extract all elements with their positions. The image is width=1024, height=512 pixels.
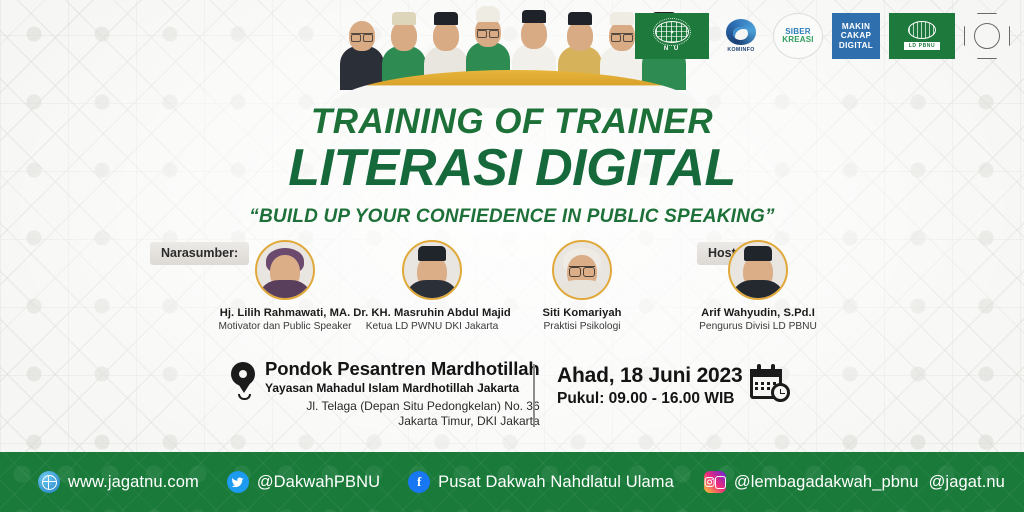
instagram-label: @lembagadakwah_pbnu	[734, 473, 919, 492]
octagon-logo	[964, 13, 1010, 59]
clock-icon	[771, 383, 790, 402]
person-head	[475, 17, 501, 47]
person-head	[349, 21, 375, 51]
footer-facebook[interactable]: f Pusat Dakwah Nahdlatul Ulama	[408, 471, 674, 493]
footer-twitter[interactable]: @DakwahPBNU	[227, 471, 380, 493]
speaker-card: Siti Komariyah Praktisi Psikologi	[487, 240, 677, 332]
social-footer-bar: www.jagatnu.com @DakwahPBNU f Pusat Dakw…	[0, 452, 1024, 512]
speaker-role: Praktisi Psikologi	[487, 321, 677, 332]
vertical-divider	[533, 364, 535, 427]
avatar-shoulders	[730, 280, 786, 300]
person-cap	[392, 12, 416, 25]
makin-line1: MAKIN	[842, 22, 870, 31]
siber-kreasi-logo: SIBER KREASI	[773, 13, 823, 59]
speaker-card: Arif Wahyudin, S.Pd.I Pengurus Divisi LD…	[663, 240, 853, 332]
person-cap	[522, 10, 546, 23]
event-poster: N U KOMINFO SIBER KREASI MAKIN CAKAP DIG…	[0, 0, 1024, 512]
nu-logo-label: N U	[664, 46, 680, 52]
nu-logo: N U	[635, 13, 709, 59]
facebook-icon: f	[408, 471, 430, 493]
makin-line3: DIGITAL	[839, 41, 873, 50]
avatar-peci-cap	[418, 246, 446, 261]
footer-website[interactable]: www.jagatnu.com	[38, 471, 199, 493]
event-details-section: Pondok Pesantren Mardhotillah Yayasan Ma…	[0, 358, 1024, 438]
speaker-name: Arif Wahyudin, S.Pd.I	[663, 307, 853, 319]
person-cap	[568, 12, 592, 25]
person-glasses-icon	[611, 33, 633, 39]
event-time: Pukul: 09.00 - 16.00 WIB	[557, 390, 742, 408]
instagram-secondary-label: @jagat.nu	[929, 473, 1005, 492]
avatar-shoulders	[554, 280, 610, 300]
footer-instagram[interactable]: @lembagadakwah_pbnu	[704, 471, 919, 493]
partner-logo-strip: N U KOMINFO SIBER KREASI MAKIN CAKAP DIG…	[635, 13, 1010, 59]
avatar-peci-cap	[744, 246, 772, 261]
venue-foundation: Yayasan Mahadul Islam Mardhotillah Jakar…	[265, 381, 540, 395]
nu-globe-icon	[655, 21, 689, 43]
globe-icon	[38, 471, 60, 493]
kominfo-mark-icon	[726, 19, 756, 45]
speaker-name: Siti Komariyah	[487, 307, 677, 319]
instagram-icon	[704, 471, 726, 493]
calendar-header-bar	[750, 369, 782, 377]
person-glasses-icon	[351, 33, 373, 39]
avatar	[402, 240, 462, 300]
person-turban	[476, 6, 500, 22]
calendar-clock-icon	[750, 364, 790, 402]
kominfo-logo-label: KOMINFO	[727, 47, 754, 53]
twitter-icon	[227, 471, 249, 493]
facebook-label: Pusat Dakwah Nahdlatul Ulama	[438, 473, 674, 492]
person-cap	[610, 12, 634, 25]
avatar	[255, 240, 315, 300]
twitter-label: @DakwahPBNU	[257, 473, 380, 492]
person-head	[521, 19, 547, 49]
makin-line2: CAKAP	[841, 31, 872, 40]
avatar-shoulders	[404, 280, 460, 300]
schedule-block: Ahad, 18 Juni 2023 Pukul: 09.00 - 16.00 …	[557, 364, 742, 408]
speakers-section: Narasumber: Host: Hj. Lilih Rahmawati, M…	[0, 240, 1024, 350]
avatar-glasses-icon	[569, 266, 595, 274]
venue-name: Pondok Pesantren Mardhotillah	[265, 359, 540, 380]
footer-instagram-secondary[interactable]: @jagat.nu	[929, 473, 1005, 492]
ld-pbnu-logo: LD PBNU	[889, 13, 955, 59]
avatar	[728, 240, 788, 300]
website-label: www.jagatnu.com	[68, 473, 199, 492]
avatar-shoulders	[257, 280, 313, 300]
title-line-2: LITERASI DIGITAL	[0, 141, 1024, 196]
ld-pbnu-globe-icon	[908, 21, 936, 39]
avatar	[552, 240, 612, 300]
location-pin-icon	[231, 362, 257, 400]
kominfo-logo: KOMINFO	[718, 13, 764, 59]
person-cap	[434, 12, 458, 25]
pin-head	[231, 362, 255, 386]
group-person	[340, 21, 384, 90]
person-head	[609, 21, 635, 51]
venue-city: Jakarta Timur, DKI Jakarta	[265, 414, 540, 428]
person-head	[433, 21, 459, 51]
makin-cakap-digital-logo: MAKIN CAKAP DIGITAL	[832, 13, 880, 59]
poster-tagline: “BUILD UP YOUR CONFIEDENCE IN PUBLIC SPE…	[0, 206, 1024, 228]
speaker-role: Pengurus Divisi LD PBNU	[663, 321, 853, 332]
venue-block: Pondok Pesantren Mardhotillah Yayasan Ma…	[265, 359, 540, 428]
person-head	[567, 21, 593, 51]
siber-kreasi-line2: KREASI	[782, 36, 813, 44]
person-glasses-icon	[477, 29, 499, 35]
person-head	[391, 21, 417, 51]
poster-title-block: TRAINING OF TRAINER LITERASI DIGITAL “BU…	[0, 104, 1024, 228]
ld-pbnu-label: LD PBNU	[904, 42, 940, 50]
octagon-inner-label	[974, 23, 1000, 49]
pin-shadow	[238, 394, 251, 400]
title-line-1: TRAINING OF TRAINER	[0, 104, 1024, 139]
venue-street: Jl. Telaga (Depan Situ Pedongkelan) No. …	[265, 399, 540, 413]
octagon-shape-icon	[964, 13, 1010, 59]
event-date: Ahad, 18 Juni 2023	[557, 364, 742, 388]
